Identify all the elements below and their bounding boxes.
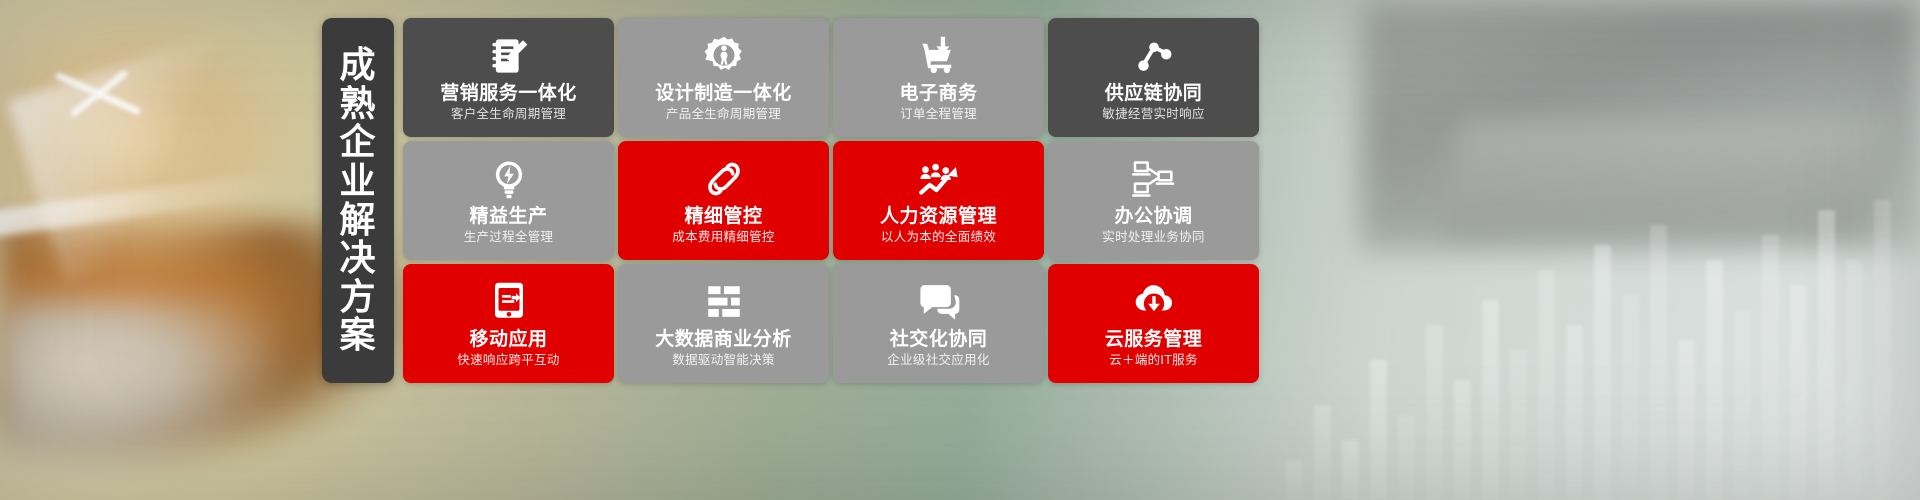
shopping-cart-download-icon <box>918 33 960 77</box>
solution-card-subtitle: 实时处理业务协同 <box>1102 230 1204 245</box>
solution-card[interactable]: 电子商务订单全程管理 <box>833 18 1044 137</box>
solution-card-subtitle: 成本费用精细管控 <box>672 230 774 245</box>
people-growth-arrow-icon <box>917 156 961 200</box>
solution-card[interactable]: 办公协调实时处理业务协同 <box>1048 141 1259 260</box>
solution-card-title: 供应链协同 <box>1105 83 1203 105</box>
solution-card-subtitle: 企业级社交应用化 <box>887 353 989 368</box>
page-title: 成 熟 企 业 解 决 方 案 <box>339 46 376 354</box>
solution-card-subtitle: 生产过程全管理 <box>464 230 554 245</box>
solution-card-title: 人力资源管理 <box>880 206 997 228</box>
solution-card[interactable]: 云服务管理云＋端的IT服务 <box>1048 264 1259 383</box>
solution-card-subtitle: 以人为本的全面绩效 <box>881 230 996 245</box>
solution-card-title: 精益生产 <box>469 206 547 228</box>
solution-card[interactable]: 设计制造一体化产品全生命周期管理 <box>618 18 829 137</box>
chain-link-icon <box>703 156 745 200</box>
solution-card[interactable]: 人力资源管理以人为本的全面绩效 <box>833 141 1044 260</box>
gear-person-icon <box>703 33 745 77</box>
bar-chart-data-icon <box>703 279 745 323</box>
solution-card-subtitle: 敏捷经营实时响应 <box>1102 107 1204 122</box>
solution-card[interactable]: 供应链协同敏捷经营实时响应 <box>1048 18 1259 137</box>
network-nodes-icon <box>1133 33 1175 77</box>
solution-card-subtitle: 数据驱动智能决策 <box>672 353 774 368</box>
section-title-panel: 成 熟 企 业 解 决 方 案 <box>322 18 394 383</box>
solution-card-title: 电子商务 <box>899 83 977 105</box>
notebook-pen-icon <box>488 33 530 77</box>
solution-card-title: 精细管控 <box>684 206 762 228</box>
solution-card-title: 大数据商业分析 <box>655 329 792 351</box>
solution-card[interactable]: 精益生产生产过程全管理 <box>403 141 614 260</box>
solution-card-title: 社交化协同 <box>890 329 988 351</box>
speech-bubble-icon <box>917 279 961 323</box>
connected-computers-icon <box>1132 156 1176 200</box>
solution-card-title: 设计制造一体化 <box>655 83 792 105</box>
solution-card[interactable]: 营销服务一体化客户全生命周期管理 <box>403 18 614 137</box>
solution-card-subtitle: 云＋端的IT服务 <box>1109 353 1198 368</box>
lightbulb-bolt-icon <box>488 156 530 200</box>
solution-card-subtitle: 订单全程管理 <box>900 107 977 122</box>
solution-card[interactable]: 大数据商业分析数据驱动智能决策 <box>618 264 829 383</box>
solution-card-title: 云服务管理 <box>1105 329 1203 351</box>
solution-card[interactable]: 精细管控成本费用精细管控 <box>618 141 829 260</box>
solution-card[interactable]: 社交化协同企业级社交应用化 <box>833 264 1044 383</box>
solution-card-title: 办公协调 <box>1114 206 1192 228</box>
banner-stage: 成 熟 企 业 解 决 方 案 营销服务一体化客户全生命周期管理设计制造一体化产… <box>0 0 1920 500</box>
cloud-download-icon <box>1132 279 1176 323</box>
solution-card-title: 移动应用 <box>469 329 547 351</box>
mobile-device-icon <box>489 279 529 323</box>
solution-card-title: 营销服务一体化 <box>440 83 577 105</box>
solution-card[interactable]: 移动应用快速响应跨平互动 <box>403 264 614 383</box>
solution-card-subtitle: 产品全生命周期管理 <box>666 107 781 122</box>
solution-card-grid: 营销服务一体化客户全生命周期管理设计制造一体化产品全生命周期管理电子商务订单全程… <box>403 18 1259 383</box>
solution-card-subtitle: 快速响应跨平互动 <box>457 353 559 368</box>
solution-card-subtitle: 客户全生命周期管理 <box>451 107 566 122</box>
